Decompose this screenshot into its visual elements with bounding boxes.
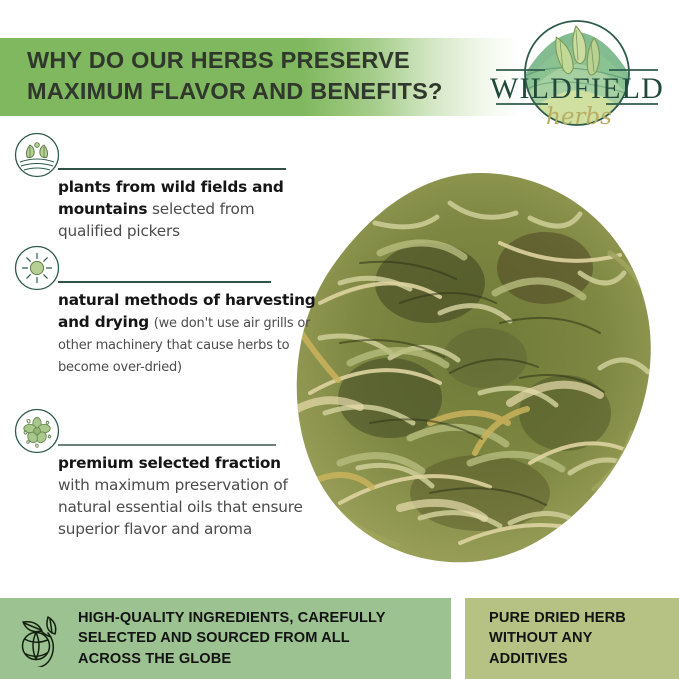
feature-text-premium-fraction: premium selected fraction with maximum p… bbox=[58, 452, 316, 540]
field-plants-icon bbox=[14, 132, 60, 178]
feature-text-natural-drying: natural methods of harvesting and drying… bbox=[58, 289, 316, 377]
flower-icon bbox=[14, 408, 60, 454]
brand-logo: WILDFIELD herbs bbox=[490, 14, 665, 132]
logo-wordmark: WILDFIELD bbox=[490, 72, 664, 105]
banner-pure-dried-herb: PURE DRIED HERB WITHOUT ANY ADDITIVES bbox=[465, 598, 679, 679]
globe-leaf-icon bbox=[12, 611, 64, 667]
banner-right-text: PURE DRIED HERB WITHOUT ANY ADDITIVES bbox=[489, 608, 626, 670]
feature-divider-rule bbox=[58, 444, 276, 446]
feature-divider-rule bbox=[58, 168, 286, 170]
page-title: WHY DO OUR HERBS PRESERVE MAXIMUM FLAVOR… bbox=[27, 45, 467, 107]
herb-product-photo bbox=[280, 163, 679, 575]
banner-left-text: HIGH-QUALITY INGREDIENTS, CAREFULLY SELE… bbox=[78, 608, 386, 670]
logo-mark: WILDFIELD herbs bbox=[490, 14, 665, 132]
feature-bold-text: premium selected fraction bbox=[58, 454, 281, 472]
sun-icon bbox=[14, 245, 60, 291]
logo-subwordmark: herbs bbox=[546, 104, 612, 130]
feature-text-wild-fields: plants from wild fields and mountains se… bbox=[58, 176, 316, 242]
feature-regular-text: with maximum preservation of natural ess… bbox=[58, 476, 303, 538]
feature-divider-rule bbox=[58, 281, 271, 283]
banner-high-quality-ingredients: HIGH-QUALITY INGREDIENTS, CAREFULLY SELE… bbox=[0, 598, 451, 679]
dried-herb-pile-illustration bbox=[280, 163, 679, 575]
